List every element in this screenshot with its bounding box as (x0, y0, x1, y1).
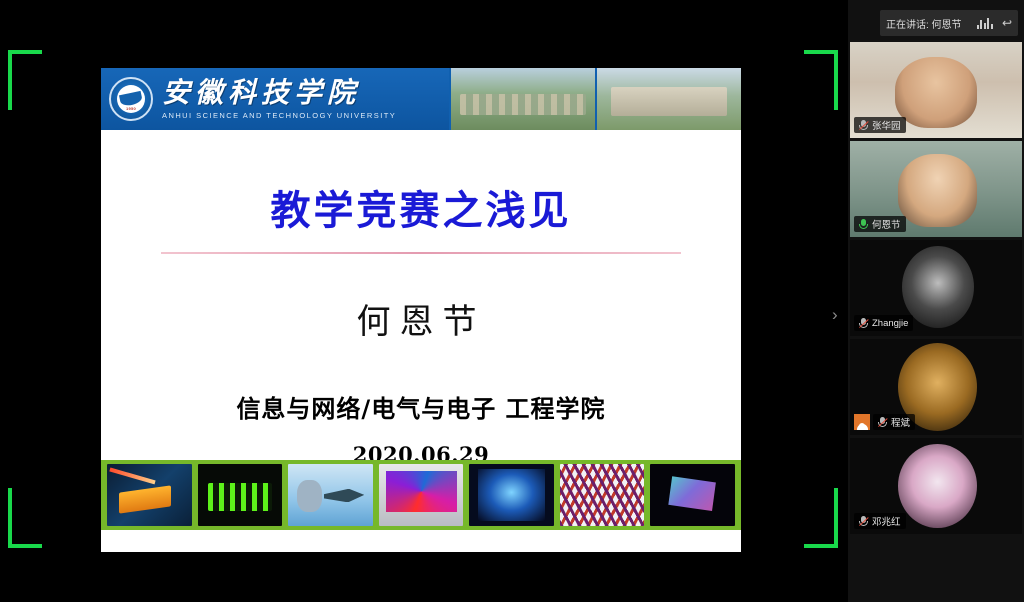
participant-name: 程斌 (891, 415, 910, 429)
participant-tile[interactable]: 何恩节 (850, 141, 1022, 237)
participant-name-chip: Zhangjie (854, 315, 913, 331)
participant-name-chip: 张华园 (854, 117, 906, 133)
participant-tile[interactable]: 程斌 (850, 339, 1022, 435)
fighter-jet-image (288, 464, 373, 526)
photonic-crystal-image (650, 464, 735, 526)
graphene-lattice-image (560, 464, 645, 526)
laser-device-image (107, 464, 192, 526)
participant-rail: 正在讲话: 何恩节 ↩ 张华园 何恩节 (848, 0, 1024, 602)
frame-bracket-bottom-right (804, 488, 838, 548)
user-avatar-icon (854, 414, 870, 430)
presenter-name: 何恩节 (101, 294, 741, 343)
university-name-en: ANHUI SCIENCE AND TECHNOLOGY UNIVERSITY (162, 112, 396, 120)
frame-bracket-top-left (8, 50, 42, 110)
slide-header-banner: 1950 安徽科技学院 ANHUI SCIENCE AND TECHNOLOGY… (101, 68, 741, 130)
participant-name-chip: 程斌 (873, 414, 915, 430)
participant-tiles: 张华园 何恩节 Zhangjie (848, 42, 1024, 534)
title-divider (161, 252, 681, 254)
participant-name: 邓兆红 (872, 514, 901, 528)
frame-bracket-top-right (804, 50, 838, 110)
university-name-cn: 安徽科技学院 (162, 79, 396, 107)
active-speaker-banner: 正在讲话: 何恩节 ↩ (880, 10, 1018, 36)
participant-name: 何恩节 (872, 217, 901, 231)
participant-tile[interactable]: Zhangjie (850, 240, 1022, 336)
color-display-tv-image (379, 464, 464, 526)
participant-tile[interactable]: 邓兆红 (850, 438, 1022, 534)
audio-waveform-icon (977, 17, 993, 29)
participant-name: Zhangjie (872, 318, 908, 329)
campus-aerial-photo (449, 68, 595, 130)
participant-name-chip: 何恩节 (854, 216, 906, 232)
presenter-affiliation: 信息与网络/电气与电子 工程学院 (101, 389, 741, 424)
campus-building-photo (595, 68, 741, 130)
microphone-muted-icon (878, 417, 887, 428)
frame-bracket-bottom-left (8, 488, 42, 548)
participant-name: 张华园 (872, 118, 901, 132)
microphone-muted-icon (859, 516, 868, 527)
microphone-muted-icon (859, 318, 868, 329)
next-slide-chevron-icon[interactable]: › (832, 305, 838, 325)
green-nanorod-array-image (198, 464, 283, 526)
university-identity: 1950 安徽科技学院 ANHUI SCIENCE AND TECHNOLOGY… (101, 68, 449, 130)
slide-body: 教学竞赛之浅见 何恩节 信息与网络/电气与电子 工程学院 2020.06.29 (101, 178, 741, 530)
presentation-slide: 1950 安徽科技学院 ANHUI SCIENCE AND TECHNOLOGY… (101, 68, 741, 552)
back-arrow-icon[interactable]: ↩ (1002, 16, 1012, 30)
participant-name-chip: 邓兆红 (854, 513, 906, 529)
blue-light-array-image (469, 464, 554, 526)
participant-tile[interactable]: 张华园 (850, 42, 1022, 138)
slide-title: 教学竞赛之浅见 (101, 178, 741, 236)
slide-image-strip (101, 460, 741, 530)
crest-year: 1950 (117, 106, 145, 111)
university-crest-icon: 1950 (109, 77, 153, 121)
active-speaker-label: 正在讲话: 何恩节 (886, 16, 962, 31)
microphone-muted-icon (859, 120, 868, 131)
microphone-active-icon (859, 219, 868, 230)
screen-share-stage: 1950 安徽科技学院 ANHUI SCIENCE AND TECHNOLOGY… (0, 0, 1024, 602)
